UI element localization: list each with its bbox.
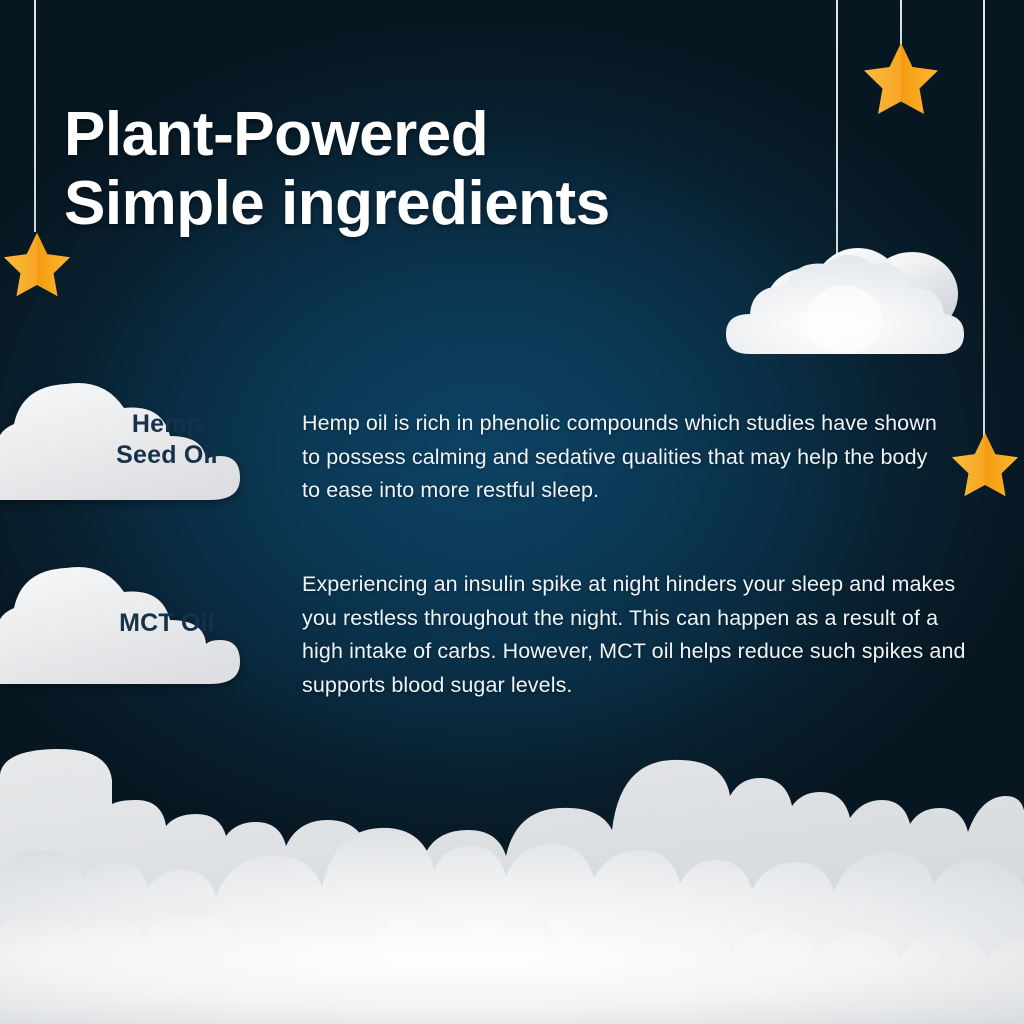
ingredient-label-line-1: MCT Oil — [119, 608, 215, 639]
ingredient-label-line-2: Seed Oil — [116, 441, 218, 469]
ingredient-label-line-1: Hemp — [132, 410, 202, 438]
bottom-cloud-bank — [0, 734, 1024, 1024]
ingredient-row-mct-oil: MCT Oil Experiencing an insulin spike at… — [0, 558, 972, 724]
infographic-poster: Plant-Powered Simple ingredients Hemp Se… — [0, 0, 1024, 1024]
ingredient-row-hemp-seed-oil: Hemp Seed Oil Hemp oil is rich in phenol… — [0, 374, 937, 529]
ingredient-label-cloud-hemp: Hemp Seed Oil — [0, 374, 290, 506]
star-right-icon — [950, 430, 1020, 498]
ingredient-description-mct: Experiencing an insulin spike at night h… — [302, 568, 972, 702]
ingredient-description-hemp: Hemp oil is rich in phenolic compounds w… — [302, 407, 937, 508]
title-line-2: Simple ingredients — [64, 169, 610, 238]
hanging-string-right-b — [983, 0, 985, 442]
ingredient-label-text-hemp: Hemp Seed Oil — [52, 374, 282, 506]
star-left-icon — [2, 230, 72, 298]
ingredient-label-text-mct: MCT Oil — [52, 558, 282, 690]
hanging-string-left — [34, 0, 36, 232]
title-line-1: Plant-Powered — [64, 100, 488, 169]
page-title: Plant-Powered Simple ingredients — [64, 100, 610, 239]
star-top-right-icon — [862, 40, 940, 116]
hanging-cloud-icon — [716, 242, 970, 365]
ingredient-label-cloud-mct: MCT Oil — [0, 558, 290, 690]
